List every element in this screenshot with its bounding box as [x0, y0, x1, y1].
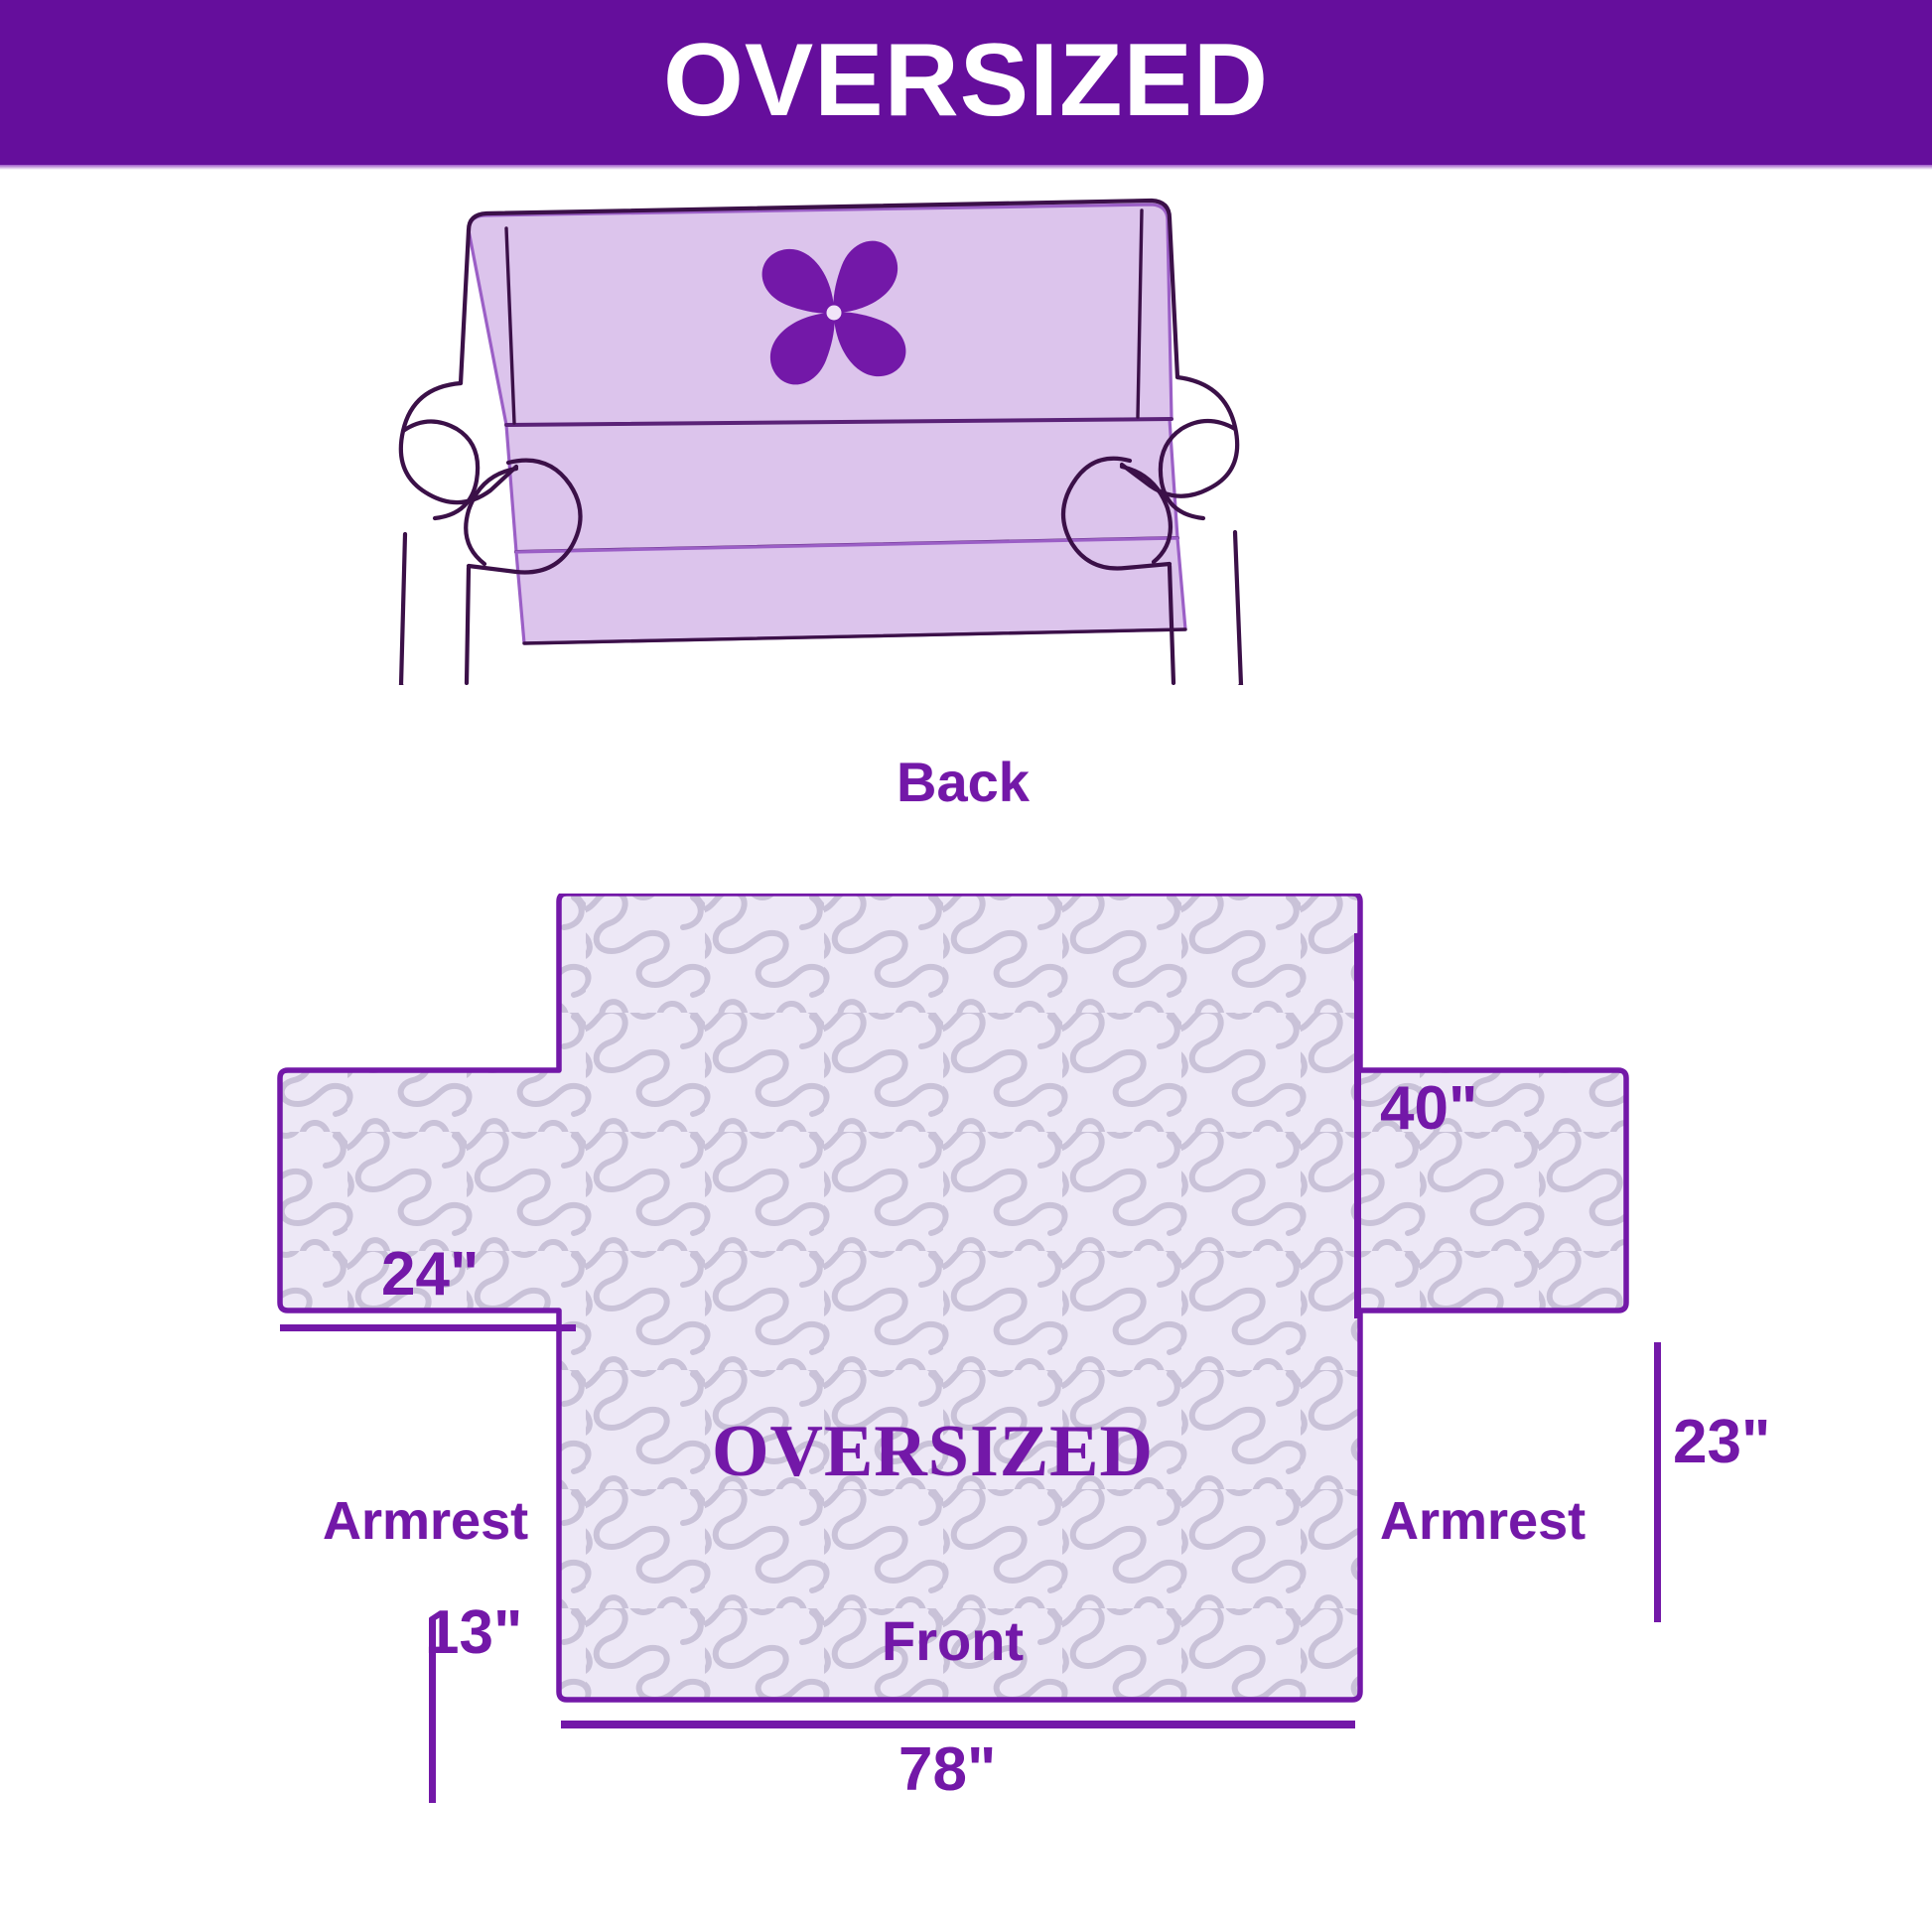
- label-armrest-right: Armrest: [1380, 1494, 1586, 1548]
- label-front: Front: [882, 1613, 1024, 1669]
- dimension-rule-back-inset: [280, 1324, 576, 1331]
- dimension-label-back-inset: 24": [381, 1244, 479, 1306]
- label-product-oversized: OVERSIZED: [712, 1415, 1154, 1488]
- banner-bottom-edge: [0, 165, 1932, 170]
- dimension-rule-total-width: [561, 1721, 1355, 1728]
- dimension-label-back-height: 40": [1380, 1078, 1477, 1140]
- header-banner: OVERSIZED: [0, 0, 1932, 165]
- page-title: OVERSIZED: [663, 29, 1269, 132]
- cover-outline-path: [280, 894, 1626, 1700]
- product-size-diagram-page: OVERSIZED .ink{fill:none;stroke:#3B1048;…: [0, 0, 1932, 1932]
- sofa-illustration: .ink{fill:none;stroke:#3B1048;stroke-wid…: [357, 189, 1608, 685]
- label-armrest-left: Armrest: [323, 1494, 528, 1548]
- dimension-rule-back-height: [1354, 933, 1361, 1318]
- dimension-label-total-width: 78": [898, 1739, 996, 1801]
- dimension-label-front-skirt: 13": [425, 1602, 522, 1664]
- sofa-line-drawing-svg: .ink{fill:none;stroke:#3B1048;stroke-wid…: [357, 189, 1608, 685]
- dimension-rule-armrest-height: [1654, 1342, 1661, 1622]
- label-back: Back: [897, 755, 1030, 810]
- dimension-label-armrest-height: 23": [1673, 1412, 1770, 1473]
